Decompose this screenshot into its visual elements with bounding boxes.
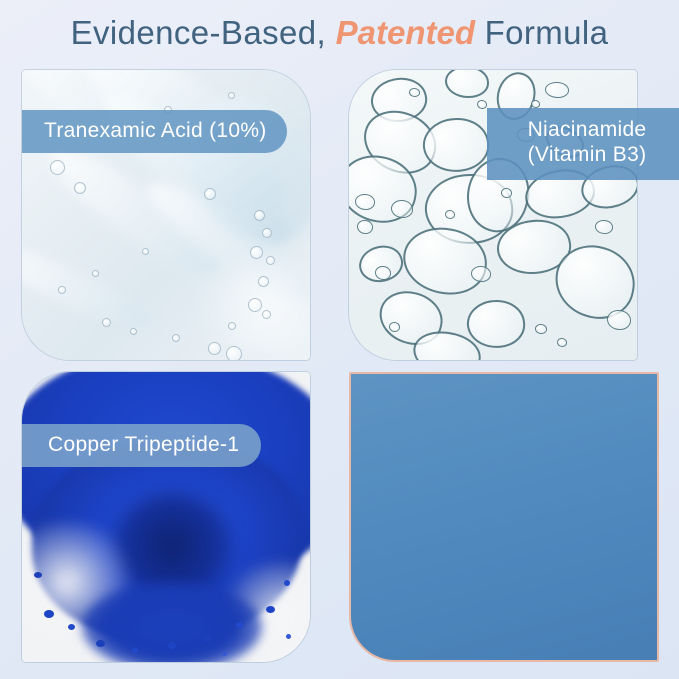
- label-tranexamic-acid: Tranexamic Acid (10%): [22, 110, 287, 153]
- label-niacinamide: Niacinamide (Vitamin B3): [487, 108, 679, 180]
- infographic-root: Evidence-Based, Patented Formula: [0, 0, 679, 679]
- blue-powder-image: [22, 372, 310, 662]
- title-accent-patented: Patented: [336, 14, 475, 51]
- panel-copper-tripeptide: [22, 372, 310, 662]
- title-before: Evidence-Based,: [71, 14, 336, 51]
- title-after: Formula: [475, 14, 608, 51]
- panel-product: NEXTLEAP® Glow Serum Brightening Hydrati…: [349, 372, 659, 662]
- label-niacinamide-line1: Niacinamide: [501, 118, 673, 143]
- label-niacinamide-line2: (Vitamin B3): [501, 143, 673, 168]
- label-copper-tripeptide: Copper Tripeptide-1: [22, 424, 261, 467]
- page-title: Evidence-Based, Patented Formula: [0, 14, 679, 52]
